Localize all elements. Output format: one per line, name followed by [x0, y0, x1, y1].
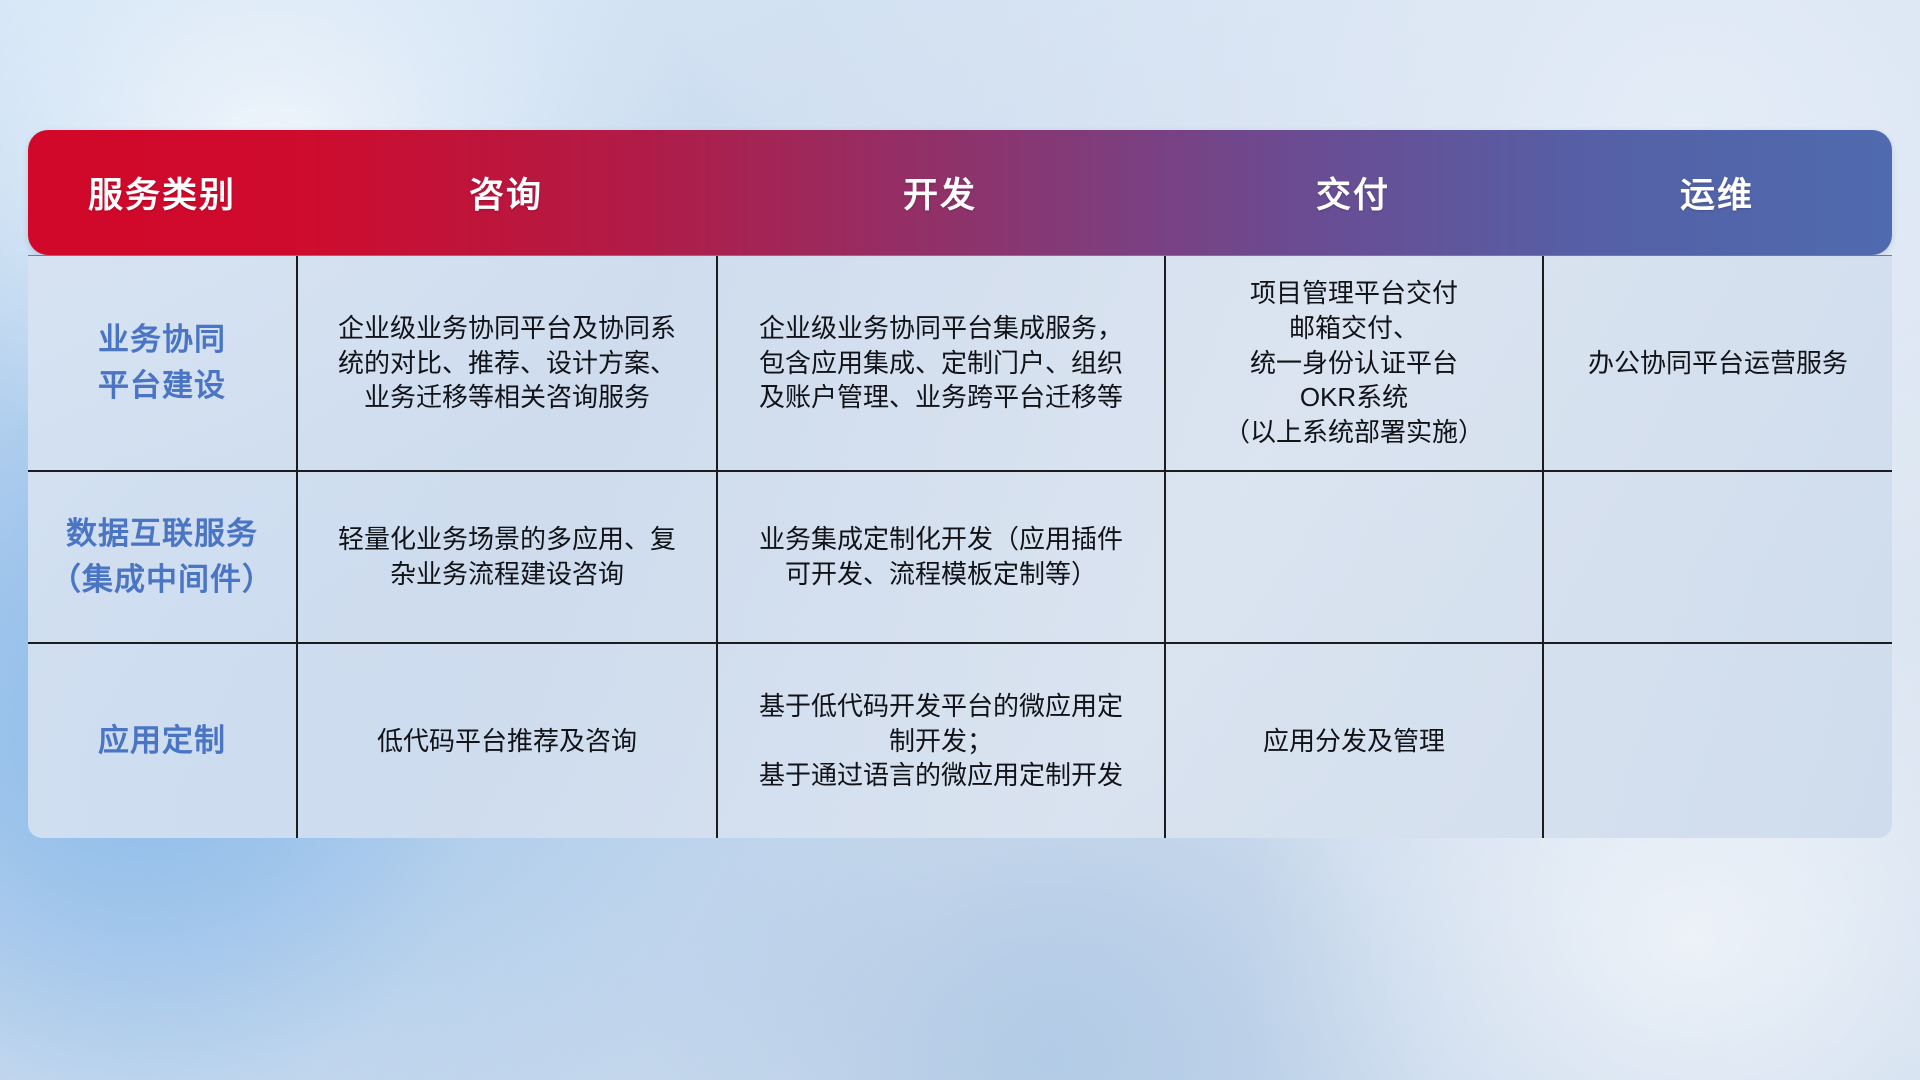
- row-label-data-interconnect-service: 数据互联服务 （集成中间件）: [28, 472, 296, 642]
- column-header-service-category: 服务类别: [28, 130, 296, 255]
- table-row: 应用定制 低代码平台推荐及咨询 基于低代码开发平台的微应用定 制开发； 基于通过…: [28, 642, 1892, 838]
- table-header-row: 服务类别 咨询 开发 交付 运维: [28, 130, 1892, 255]
- table-body: 业务协同 平台建设 企业级业务协同平台及协同系 统的对比、推荐、设计方案、 业务…: [28, 255, 1892, 838]
- column-header-operations: 运维: [1542, 130, 1892, 255]
- cell-row1-delivery: [1164, 472, 1542, 642]
- table-row: 业务协同 平台建设 企业级业务协同平台及协同系 统的对比、推荐、设计方案、 业务…: [28, 255, 1892, 470]
- cell-row0-delivery: 项目管理平台交付 邮箱交付、 统一身份认证平台 OKR系统 （以上系统部署实施）: [1164, 256, 1542, 470]
- column-header-consulting: 咨询: [296, 130, 716, 255]
- cell-row0-development: 企业级业务协同平台集成服务， 包含应用集成、定制门户、组织 及账户管理、业务跨平…: [716, 256, 1164, 470]
- cell-row1-operations: [1542, 472, 1892, 642]
- column-header-development: 开发: [716, 130, 1164, 255]
- table-row: 数据互联服务 （集成中间件） 轻量化业务场景的多应用、复 杂业务流程建设咨询 业…: [28, 470, 1892, 642]
- cell-row2-operations: [1542, 644, 1892, 838]
- cell-row2-delivery: 应用分发及管理: [1164, 644, 1542, 838]
- service-matrix-table: 服务类别 咨询 开发 交付 运维 业务协同 平台建设 企业级业务协同平台及协同系…: [28, 130, 1892, 838]
- cell-row1-consulting: 轻量化业务场景的多应用、复 杂业务流程建设咨询: [296, 472, 716, 642]
- row-label-business-collaboration-platform: 业务协同 平台建设: [28, 256, 296, 470]
- column-header-delivery: 交付: [1164, 130, 1542, 255]
- row-label-application-customization: 应用定制: [28, 644, 296, 838]
- cell-row2-development: 基于低代码开发平台的微应用定 制开发； 基于通过语言的微应用定制开发: [716, 644, 1164, 838]
- cell-row1-development: 业务集成定制化开发（应用插件 可开发、流程模板定制等）: [716, 472, 1164, 642]
- cell-row0-operations: 办公协同平台运营服务: [1542, 256, 1892, 470]
- cell-row2-consulting: 低代码平台推荐及咨询: [296, 644, 716, 838]
- cell-row0-consulting: 企业级业务协同平台及协同系 统的对比、推荐、设计方案、 业务迁移等相关咨询服务: [296, 256, 716, 470]
